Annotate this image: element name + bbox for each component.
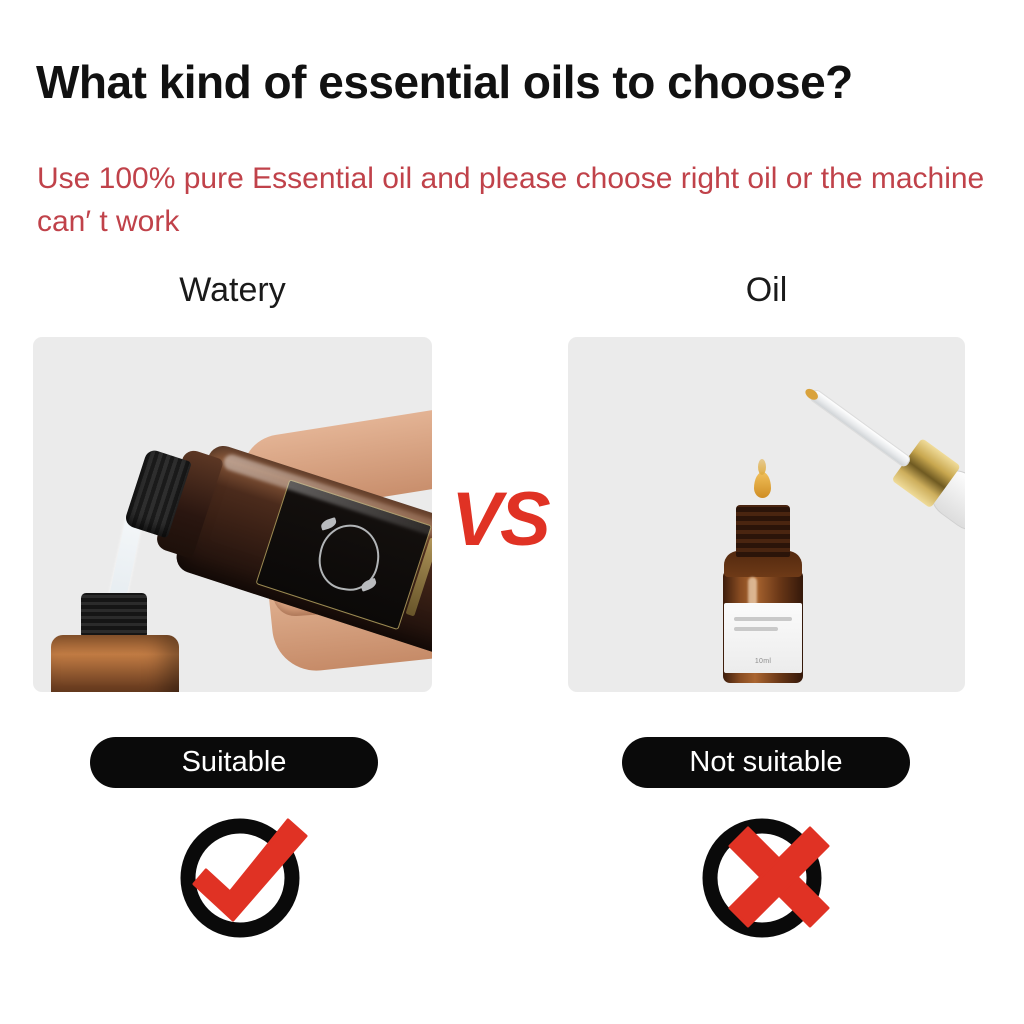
- verdict-pill-label: Suitable: [182, 746, 287, 779]
- label-text-line: [734, 627, 778, 631]
- column-caption-oil: Oil: [568, 272, 965, 309]
- versus-badge: VS: [437, 482, 563, 558]
- column-caption-watery: Watery: [33, 272, 432, 309]
- photo-panel-oil: 10ml: [568, 337, 965, 692]
- receiving-bottle: [51, 593, 181, 692]
- essential-oil-comparison-infographic: What kind of essential oils to choose? U…: [0, 0, 1024, 1024]
- receiving-bottle-cap: [81, 593, 147, 637]
- label-size-text: 10ml: [724, 658, 802, 665]
- cross-circle-icon: [700, 812, 832, 944]
- oil-bottle-neck: [736, 505, 790, 557]
- photo-panel-watery: [33, 337, 432, 692]
- oil-dropper-photo: 10ml: [568, 337, 965, 692]
- verdict-pill-suitable: Suitable: [90, 737, 378, 788]
- receiving-bottle-body: [51, 635, 179, 692]
- dropper-glass-tube: [808, 388, 913, 469]
- oil-droplet: [754, 472, 771, 498]
- page-title: What kind of essential oils to choose?: [36, 58, 996, 106]
- page-subtitle: Use 100% pure Essential oil and please c…: [37, 158, 989, 243]
- check-circle-icon: [178, 812, 310, 944]
- verdict-pill-label: Not suitable: [689, 746, 842, 779]
- essential-oil-bottle: 10ml: [720, 505, 806, 683]
- floral-wreath-icon: [314, 520, 385, 595]
- oil-bottle-label: 10ml: [724, 603, 802, 673]
- verdict-pill-not-suitable: Not suitable: [622, 737, 910, 788]
- label-text-line: [734, 617, 792, 621]
- watery-pour-photo: [33, 337, 432, 692]
